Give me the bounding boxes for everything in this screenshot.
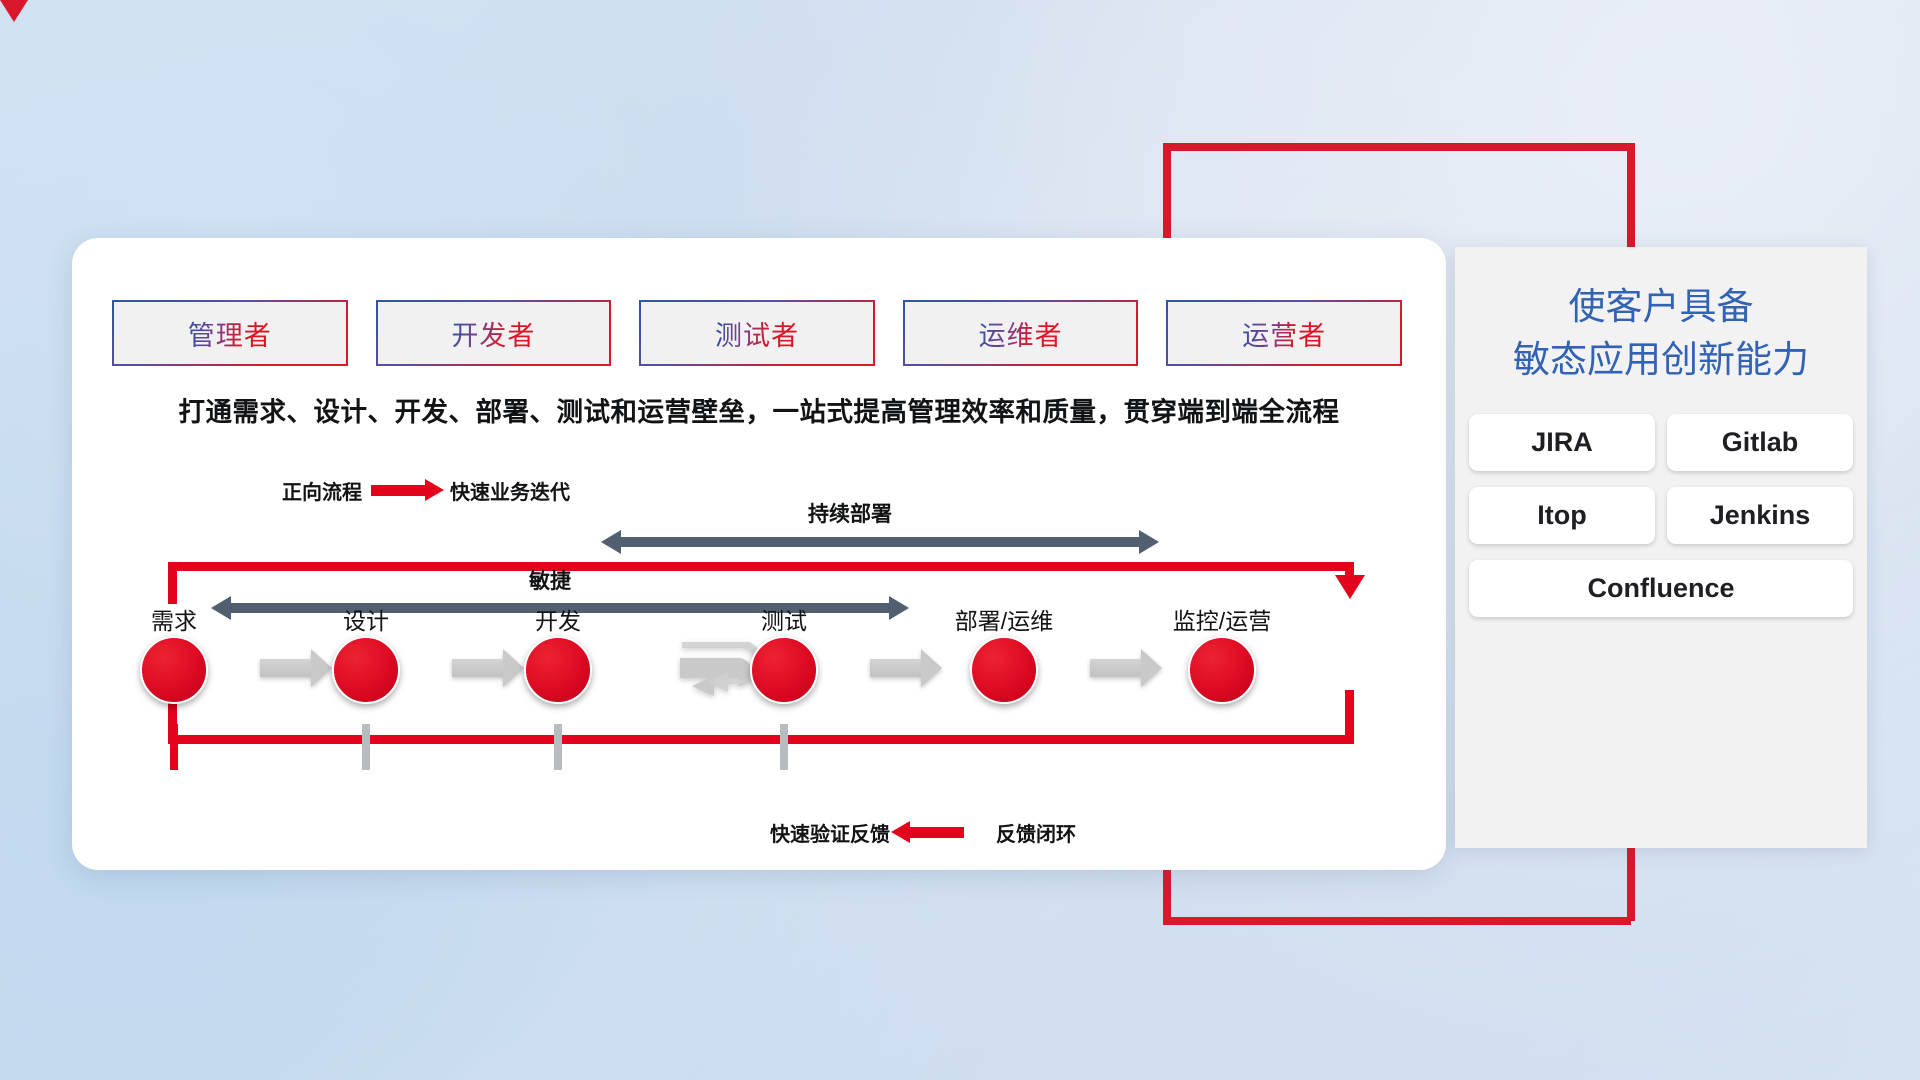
role-chip-label: 运维者	[979, 314, 1063, 353]
pipeline-node-stem	[170, 724, 178, 770]
role-chip-ops[interactable]: 运维者	[903, 300, 1139, 366]
connector-frame-bottom	[1163, 917, 1631, 925]
tool-chip-gitlab[interactable]: Gitlab	[1667, 414, 1853, 471]
tools-panel: 使客户具备 敏态应用创新能力 JIRA Gitlab Itop Jenkins …	[1455, 247, 1867, 848]
pipeline-node-label: 测试	[761, 602, 807, 636]
pipeline-node-label: 开发	[535, 602, 581, 636]
role-chip-tester[interactable]: 测试者	[639, 300, 875, 366]
pipeline-node-dot	[750, 636, 818, 704]
pipeline-node-deploy-ops[interactable]: 部署/运维	[968, 636, 1040, 704]
role-chip-label: 管理者	[188, 314, 272, 353]
red-loop-arrow-down-icon	[1335, 575, 1365, 599]
roles-row: 管理者 开发者 测试者 运维者 运营者	[112, 300, 1402, 366]
role-chip-label: 开发者	[451, 314, 535, 353]
role-chip-developer[interactable]: 开发者	[376, 300, 612, 366]
pipeline-node-stem	[554, 724, 562, 770]
legend-forward-to: 快速业务迭代	[450, 476, 570, 505]
tools-chip-grid: JIRA Gitlab Itop Jenkins Confluence	[1463, 414, 1859, 617]
red-loop-top	[168, 562, 1354, 571]
role-chip-manager[interactable]: 管理者	[112, 300, 348, 366]
red-loop-bottom	[168, 735, 1354, 744]
slide-canvas: 管理者 开发者 测试者 运维者 运营者 打通需求、设计、开发、部署、测试和运营壁…	[0, 0, 1920, 1080]
headline-text: 打通需求、设计、开发、部署、测试和运营壁垒，一站式提高管理效率和质量，贯穿端到端…	[72, 390, 1446, 429]
legend-feedback-to: 反馈闭环	[996, 818, 1076, 847]
legend-feedback-loop: 快速验证反馈 反馈闭环	[770, 818, 1076, 847]
pipeline-arrow-4-icon	[1090, 659, 1142, 677]
tools-panel-title-line1: 使客户具备	[1455, 281, 1867, 334]
legend-forward-from: 正向流程	[282, 476, 362, 505]
role-chip-label: 测试者	[715, 314, 799, 353]
pipeline-node-stem	[780, 724, 788, 770]
tools-panel-title: 使客户具备 敏态应用创新能力	[1455, 281, 1867, 386]
tool-chip-jenkins[interactable]: Jenkins	[1667, 487, 1853, 544]
pipeline-node-dot	[524, 636, 592, 704]
tool-chip-confluence[interactable]: Confluence	[1469, 560, 1853, 617]
pipeline-node-stem	[362, 724, 370, 770]
pipeline-arrow-2-icon	[452, 659, 504, 677]
pipeline-node-testing[interactable]: 测试	[748, 636, 820, 704]
pipeline-node-monitor-operations[interactable]: 监控/运营	[1186, 636, 1258, 704]
pipeline-arrow-1-icon	[260, 659, 312, 677]
connector-frame-arrowhead-icon	[0, 0, 28, 22]
tool-chip-itop[interactable]: Itop	[1469, 487, 1655, 544]
pipeline-node-dot	[140, 636, 208, 704]
legend-feedback-from: 快速验证反馈	[770, 818, 890, 847]
pipeline-node-label: 部署/运维	[955, 602, 1053, 636]
pipeline-node-requirements[interactable]: 需求	[138, 636, 210, 704]
pipeline-node-dot	[1188, 636, 1256, 704]
connector-frame-left-upper	[1163, 143, 1171, 253]
double-arrow-continuous-deployment-icon	[620, 537, 1140, 547]
arrow-left-red-icon	[908, 827, 964, 838]
pipeline-node-dot	[332, 636, 400, 704]
legend-forward-flow: 正向流程 快速业务迭代	[282, 476, 570, 505]
tool-chip-jira[interactable]: JIRA	[1469, 414, 1655, 471]
pipeline-node-design[interactable]: 设计	[330, 636, 402, 704]
red-loop-left	[168, 562, 177, 604]
tools-panel-title-line2: 敏态应用创新能力	[1455, 334, 1867, 387]
pipeline-node-label: 监控/运营	[1173, 602, 1271, 636]
role-chip-label: 运营者	[1242, 314, 1326, 353]
pipeline-node-label: 需求	[151, 602, 197, 636]
main-content-card: 管理者 开发者 测试者 运维者 运营者 打通需求、设计、开发、部署、测试和运营壁…	[72, 238, 1446, 870]
pipeline-arrow-3-icon	[870, 659, 922, 677]
arrow-right-red-icon	[371, 485, 427, 496]
pipeline-node-development[interactable]: 开发	[522, 636, 594, 704]
connector-frame-top	[1163, 143, 1631, 151]
span-label-continuous-deployment: 持续部署	[740, 498, 960, 528]
pipeline-node-dot	[970, 636, 1038, 704]
pipeline-row: 需求 设计 开发 测试 部署/运维	[100, 612, 1400, 732]
role-chip-operations[interactable]: 运营者	[1166, 300, 1402, 366]
pipeline-node-label: 设计	[343, 602, 389, 636]
span-label-agile: 敏捷	[460, 565, 640, 595]
